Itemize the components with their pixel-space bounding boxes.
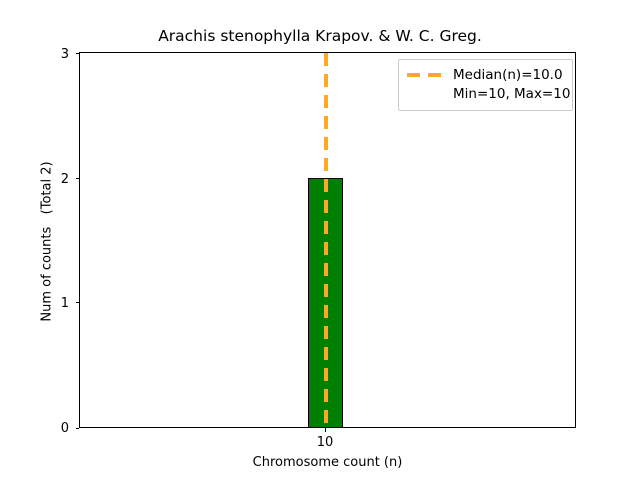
x-tick-label-10: 10 (295, 435, 355, 450)
chart-legend: Median(n)=10.0 Min=10, Max=10 (398, 59, 573, 111)
dashed-line-icon (407, 68, 445, 82)
chart-title: Arachis stenophylla Krapov. & W. C. Greg… (0, 27, 640, 45)
median-line (324, 53, 328, 427)
legend-label-minmax: Min=10, Max=10 (453, 85, 570, 103)
x-axis-label: Chromosome count (n) (79, 455, 576, 470)
legend-item-minmax: Min=10, Max=10 (407, 85, 564, 103)
legend-item-median: Median(n)=10.0 (407, 66, 564, 84)
chart-figure: Arachis stenophylla Krapov. & W. C. Greg… (0, 0, 640, 480)
legend-label-median: Median(n)=10.0 (453, 66, 563, 84)
y-axis-label: Num of counts (Total 2) (40, 52, 55, 432)
x-tick-mark-10 (325, 428, 326, 432)
